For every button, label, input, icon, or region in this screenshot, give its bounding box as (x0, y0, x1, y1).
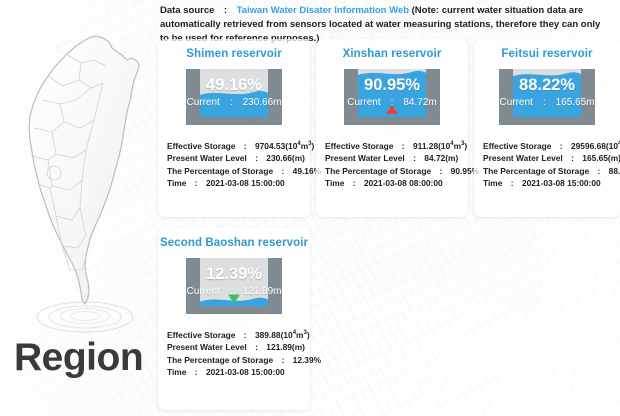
reservoir-card[interactable]: Shimen reservoir 49.16% Current : 230.66… (158, 39, 310, 217)
detail-effective-storage: Effective Storage : 911.28(104m3) (325, 138, 468, 152)
water-body (198, 91, 270, 117)
reservoir-name: Xinshan reservoir (316, 48, 468, 60)
tank-graphic (178, 63, 290, 129)
reservoir-card[interactable]: Feitsui reservoir 88.22% Current : 165.6… (474, 39, 620, 217)
detail-effective-storage: Effective Storage : 389.88(104m3) (167, 327, 310, 341)
detail-present-water-level: Present Water Level : 230.66(m) (167, 152, 310, 164)
reservoir-tank-3: 12.39% Current : 121.89m (178, 252, 290, 318)
tank-graphic (491, 63, 603, 129)
reservoir-name: Second Baoshan reservoir (158, 237, 310, 249)
detail-time: Time : 2021-03-08 15:00:00 (167, 366, 310, 378)
detail-effective-storage: Effective Storage : 9704.53(104m3) (167, 138, 310, 152)
reservoir-tank-2: 88.22% Current : 165.65m (491, 63, 603, 129)
detail-time: Time : 2021-03-08 08:00:00 (325, 177, 468, 189)
detail-present-water-level: Present Water Level : 121.89(m) (167, 341, 310, 353)
detail-percentage-of-storage: The Percentage of Storage : 90.95% (325, 165, 468, 177)
tank-graphic (336, 63, 448, 129)
tank-water (511, 72, 583, 117)
tank-graphic (178, 252, 290, 318)
detail-effective-storage: Effective Storage : 29596.68(104m3) (483, 138, 620, 152)
reservoir-details: Effective Storage : 911.28(104m3) Presen… (325, 138, 468, 189)
reservoir-card[interactable]: Xinshan reservoir 90.95% Current : 84.72… (316, 39, 468, 217)
reservoir-name: Feitsui reservoir (474, 48, 620, 60)
detail-time: Time : 2021-03-08 15:00:00 (483, 177, 620, 189)
reservoir-card[interactable]: Second Baoshan reservoir 12.39% Current … (158, 228, 310, 410)
page-title: Region (14, 336, 143, 380)
water-body (511, 72, 583, 117)
taiwan-map (6, 8, 158, 338)
detail-time: Time : 2021-03-08 15:00:00 (167, 177, 310, 189)
reservoir-details: Effective Storage : 9704.53(104m3) Prese… (167, 138, 310, 189)
detail-percentage-of-storage: The Percentage of Storage : 12.39% (167, 354, 310, 366)
reservoir-name: Shimen reservoir (158, 48, 310, 60)
detail-percentage-of-storage: The Percentage of Storage : 88.22% (483, 165, 620, 177)
reservoir-details: Effective Storage : 389.88(104m3) Presen… (167, 327, 310, 378)
detail-percentage-of-storage: The Percentage of Storage : 49.16% (167, 165, 310, 177)
reservoir-tank-0: 49.16% Current : 230.66m (178, 63, 290, 129)
tank-water (198, 91, 270, 117)
reservoir-details: Effective Storage : 29596.68(104m3) Pres… (483, 138, 620, 189)
detail-present-water-level: Present Water Level : 165.65(m) (483, 152, 620, 164)
data-source-label: Data source : (160, 5, 237, 16)
detail-present-water-level: Present Water Level : 84.72(m) (325, 152, 468, 164)
data-source-link[interactable]: Taiwan Water Disater Information Web (237, 5, 409, 16)
reservoir-tank-1: 90.95% Current : 84.72m (336, 63, 448, 129)
